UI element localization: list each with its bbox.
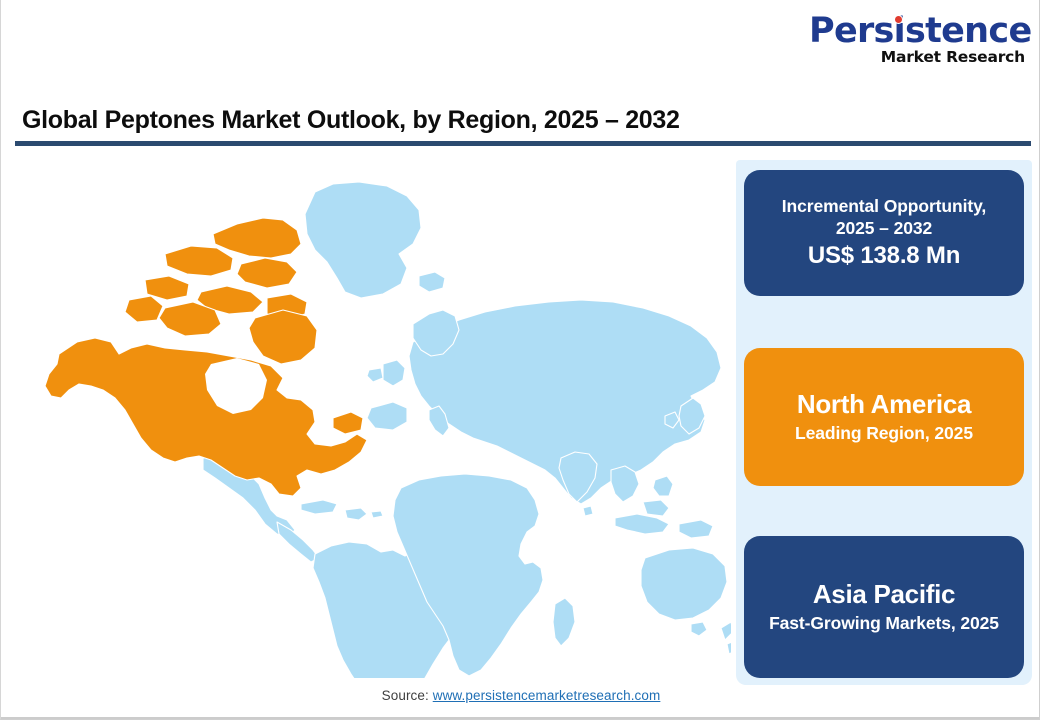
incremental-opportunity-label-line2: 2025 – 2032 xyxy=(836,217,932,239)
map-region-madagascar xyxy=(553,598,575,646)
map-region-iberia xyxy=(367,402,407,430)
incremental-opportunity-card: Incremental Opportunity, 2025 – 2032 US$… xyxy=(744,170,1024,296)
company-logo: Persistence Market Research xyxy=(809,14,1025,66)
map-region-ireland xyxy=(367,368,383,382)
logo-wordmark-text: Persistence xyxy=(809,11,1031,51)
title-divider xyxy=(15,141,1031,146)
map-region-newfoundland xyxy=(333,412,363,434)
source-link[interactable]: www.persistencemarketresearch.com xyxy=(433,688,661,703)
map-region-puerto-rico xyxy=(371,511,383,518)
incremental-opportunity-value: US$ 138.8 Mn xyxy=(808,242,960,271)
world-map-graphic xyxy=(15,158,731,678)
map-region-iceland xyxy=(419,272,445,292)
map-region-southeast-asia xyxy=(611,466,639,502)
map-region-greenland xyxy=(305,182,421,298)
map-region-hispaniola xyxy=(345,508,367,520)
leading-region-name: North America xyxy=(797,390,971,420)
map-region-new-zealand-south xyxy=(727,640,731,654)
fast-growing-markets-card: Asia Pacific Fast-Growing Markets, 2025 xyxy=(744,536,1024,678)
infographic-slide: Persistence Market Research Global Pepto… xyxy=(0,0,1040,720)
map-highlight-north-america xyxy=(45,218,367,496)
map-region-philippines xyxy=(653,476,673,496)
logo-wordmark: Persistence xyxy=(809,14,1031,49)
map-region-british-isles xyxy=(383,360,405,386)
logo-accent-dot-icon xyxy=(894,15,903,24)
map-region-tasmania xyxy=(691,622,707,636)
map-region-central-america xyxy=(277,522,319,562)
world-map-container xyxy=(15,158,731,678)
map-region-banks-island xyxy=(125,296,163,322)
fast-growing-region-name: Asia Pacific xyxy=(813,580,955,610)
leading-region-caption: Leading Region, 2025 xyxy=(795,423,973,445)
map-region-new-zealand xyxy=(721,622,731,640)
footer-divider xyxy=(1,717,1040,719)
map-region-caribbean xyxy=(301,500,337,514)
map-region-indonesia xyxy=(615,514,669,534)
fast-growing-region-caption: Fast-Growing Markets, 2025 xyxy=(769,613,999,635)
map-region-borneo xyxy=(643,500,669,516)
leading-region-card: North America Leading Region, 2025 xyxy=(744,348,1024,486)
source-label: Source: xyxy=(382,688,433,703)
map-region-new-guinea xyxy=(679,520,713,538)
map-region-arctic-islands-a xyxy=(213,218,301,258)
summary-panel: Incremental Opportunity, 2025 – 2032 US$… xyxy=(736,160,1032,685)
map-region-sri-lanka xyxy=(583,506,593,516)
map-region-australia xyxy=(641,548,727,620)
map-region-baffin-island xyxy=(249,310,317,364)
source-attribution: Source: www.persistencemarketresearch.co… xyxy=(1,688,1040,703)
logo-subtitle: Market Research xyxy=(809,50,1025,66)
map-region-arctic-islands-b xyxy=(165,246,233,276)
incremental-opportunity-label-line1: Incremental Opportunity, xyxy=(782,195,986,217)
map-region-arctic-islands-c xyxy=(237,258,297,288)
page-title: Global Peptones Market Outlook, by Regio… xyxy=(22,106,922,135)
